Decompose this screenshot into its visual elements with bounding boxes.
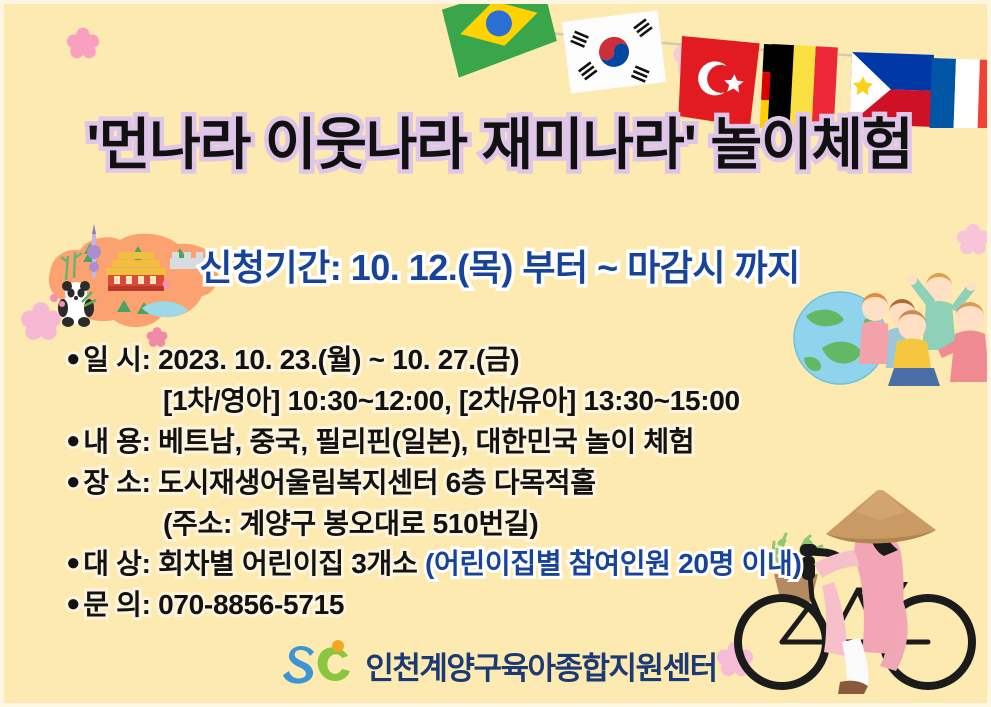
- bullet-icon: ●: [66, 427, 80, 454]
- detail-line-date: ●일 시: 2023. 10. 23.(월) ~ 10. 27.(금): [66, 340, 926, 381]
- detail-line-target: ●대 상: 회차별 어린이집 3개소 (어린이집별 참여인원 20명 이내): [66, 544, 926, 585]
- footer: 인천계양구육아종합지원센터: [4, 640, 991, 691]
- bullet-icon: ●: [66, 590, 80, 617]
- detail-line-contact: ●문 의: 070-8856-5715: [66, 585, 926, 626]
- bullet-icon: ●: [66, 468, 80, 495]
- flower-icon: [66, 26, 100, 65]
- bullet-icon: ●: [66, 549, 80, 576]
- bullet-icon: ●: [66, 345, 80, 372]
- subtitle-application-period: 신청기간: 10. 12.(목) 부터 ~ 마감시 까지: [4, 239, 991, 291]
- detail-text: 대 상: 회차별 어린이집 3개소: [83, 548, 425, 579]
- detail-line-address: (주소: 계양구 봉오대로 510번길): [66, 504, 926, 545]
- detail-line-content: ●내 용: 베트남, 중국, 필리핀(일본), 대한민국 놀이 체험: [66, 422, 926, 463]
- details-list: ●일 시: 2023. 10. 23.(월) ~ 10. 27.(금) [1차/…: [66, 340, 926, 626]
- flag-south-korea: [562, 10, 666, 93]
- detail-text: 문 의: 070-8856-5715: [83, 589, 344, 620]
- detail-text: (주소: 계양구 봉오대로 510번길): [163, 508, 538, 539]
- detail-text-highlight: (어린이집별 참여인원 20명 이내): [425, 548, 802, 579]
- detail-text: [1차/영아] 10:30~12:00, [2차/유아] 13:30~15:00: [163, 385, 740, 416]
- detail-text: 일 시: 2023. 10. 23.(월) ~ 10. 27.(금): [83, 344, 519, 375]
- poster-canvas: '먼나라 이웃나라 재미나라' 놀이체험 신청기간: 10. 12.(목) 부터…: [0, 0, 991, 707]
- detail-line-times: [1차/영아] 10:30~12:00, [2차/유아] 13:30~15:00: [66, 381, 926, 422]
- flag-brazil: [440, 0, 560, 78]
- organization-name: 인천계양구육아종합지원센터: [365, 643, 716, 688]
- detail-text: 장 소: 도시재생어울림복지센터 6층 다목적홀: [83, 467, 596, 498]
- detail-line-place: ●장 소: 도시재생어울림복지센터 6층 다목적홀: [66, 463, 926, 504]
- sc-logo-icon: [282, 640, 356, 691]
- page-title: '먼나라 이웃나라 재미나라' 놀이체험: [4, 100, 991, 181]
- detail-text: 내 용: 베트남, 중국, 필리핀(일본), 대한민국 놀이 체험: [83, 426, 694, 457]
